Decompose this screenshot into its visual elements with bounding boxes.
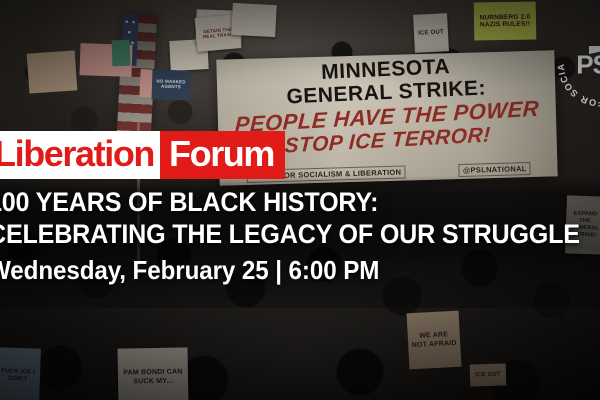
- event-copy-block: 100 YEARS OF BLACK HISTORY: CELEBRATING …: [0, 186, 600, 285]
- logo-liberation-plate: Liberation: [0, 131, 160, 179]
- liberation-forum-logo: Liberation Forum: [0, 131, 285, 179]
- headline-line-1: 100 YEARS OF BLACK HISTORY:: [0, 186, 565, 218]
- event-promo-graphic: YOU CAN'T BE NEUTRAL ON A MOVING TRAIN D…: [0, 0, 600, 400]
- event-datetime: Wednesday, February 25 | 6:00 PM: [0, 256, 565, 285]
- headline-line-2: CELEBRATING THE LEGACY OF OUR STRUGGLE: [0, 218, 565, 250]
- logo-forum-text: Forum: [169, 136, 274, 172]
- logo-liberation-text: Liberation: [0, 136, 154, 172]
- logo-forum-plate: Forum: [160, 131, 285, 179]
